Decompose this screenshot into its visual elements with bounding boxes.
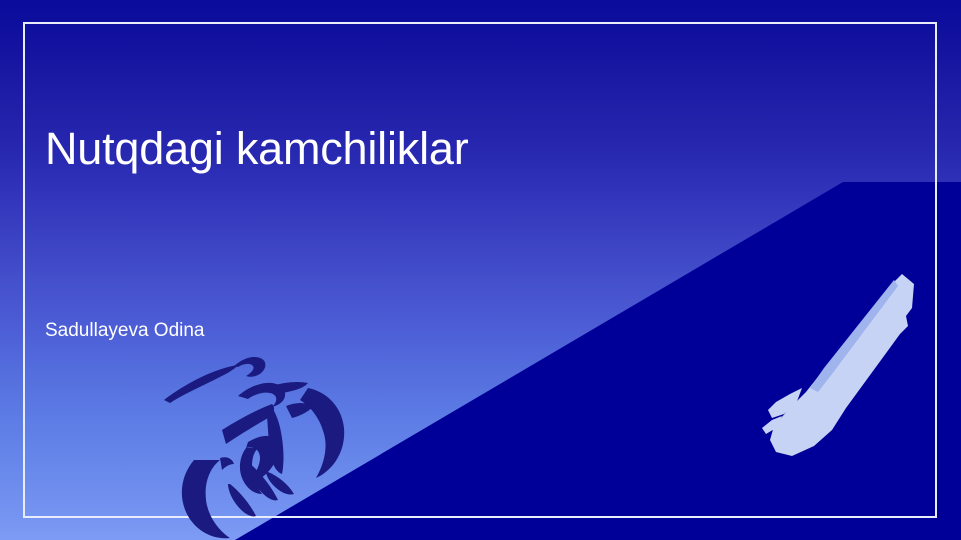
slide-subtitle-author: Sadullayeva Odina <box>45 320 645 343</box>
page-title: Nutqdagi kamchiliklar <box>45 124 845 174</box>
presentation-slide: Nutqdagi kamchiliklar Sadullayeva Odina <box>0 0 961 540</box>
bicycle-icon <box>160 352 388 540</box>
pen-icon <box>762 268 922 468</box>
